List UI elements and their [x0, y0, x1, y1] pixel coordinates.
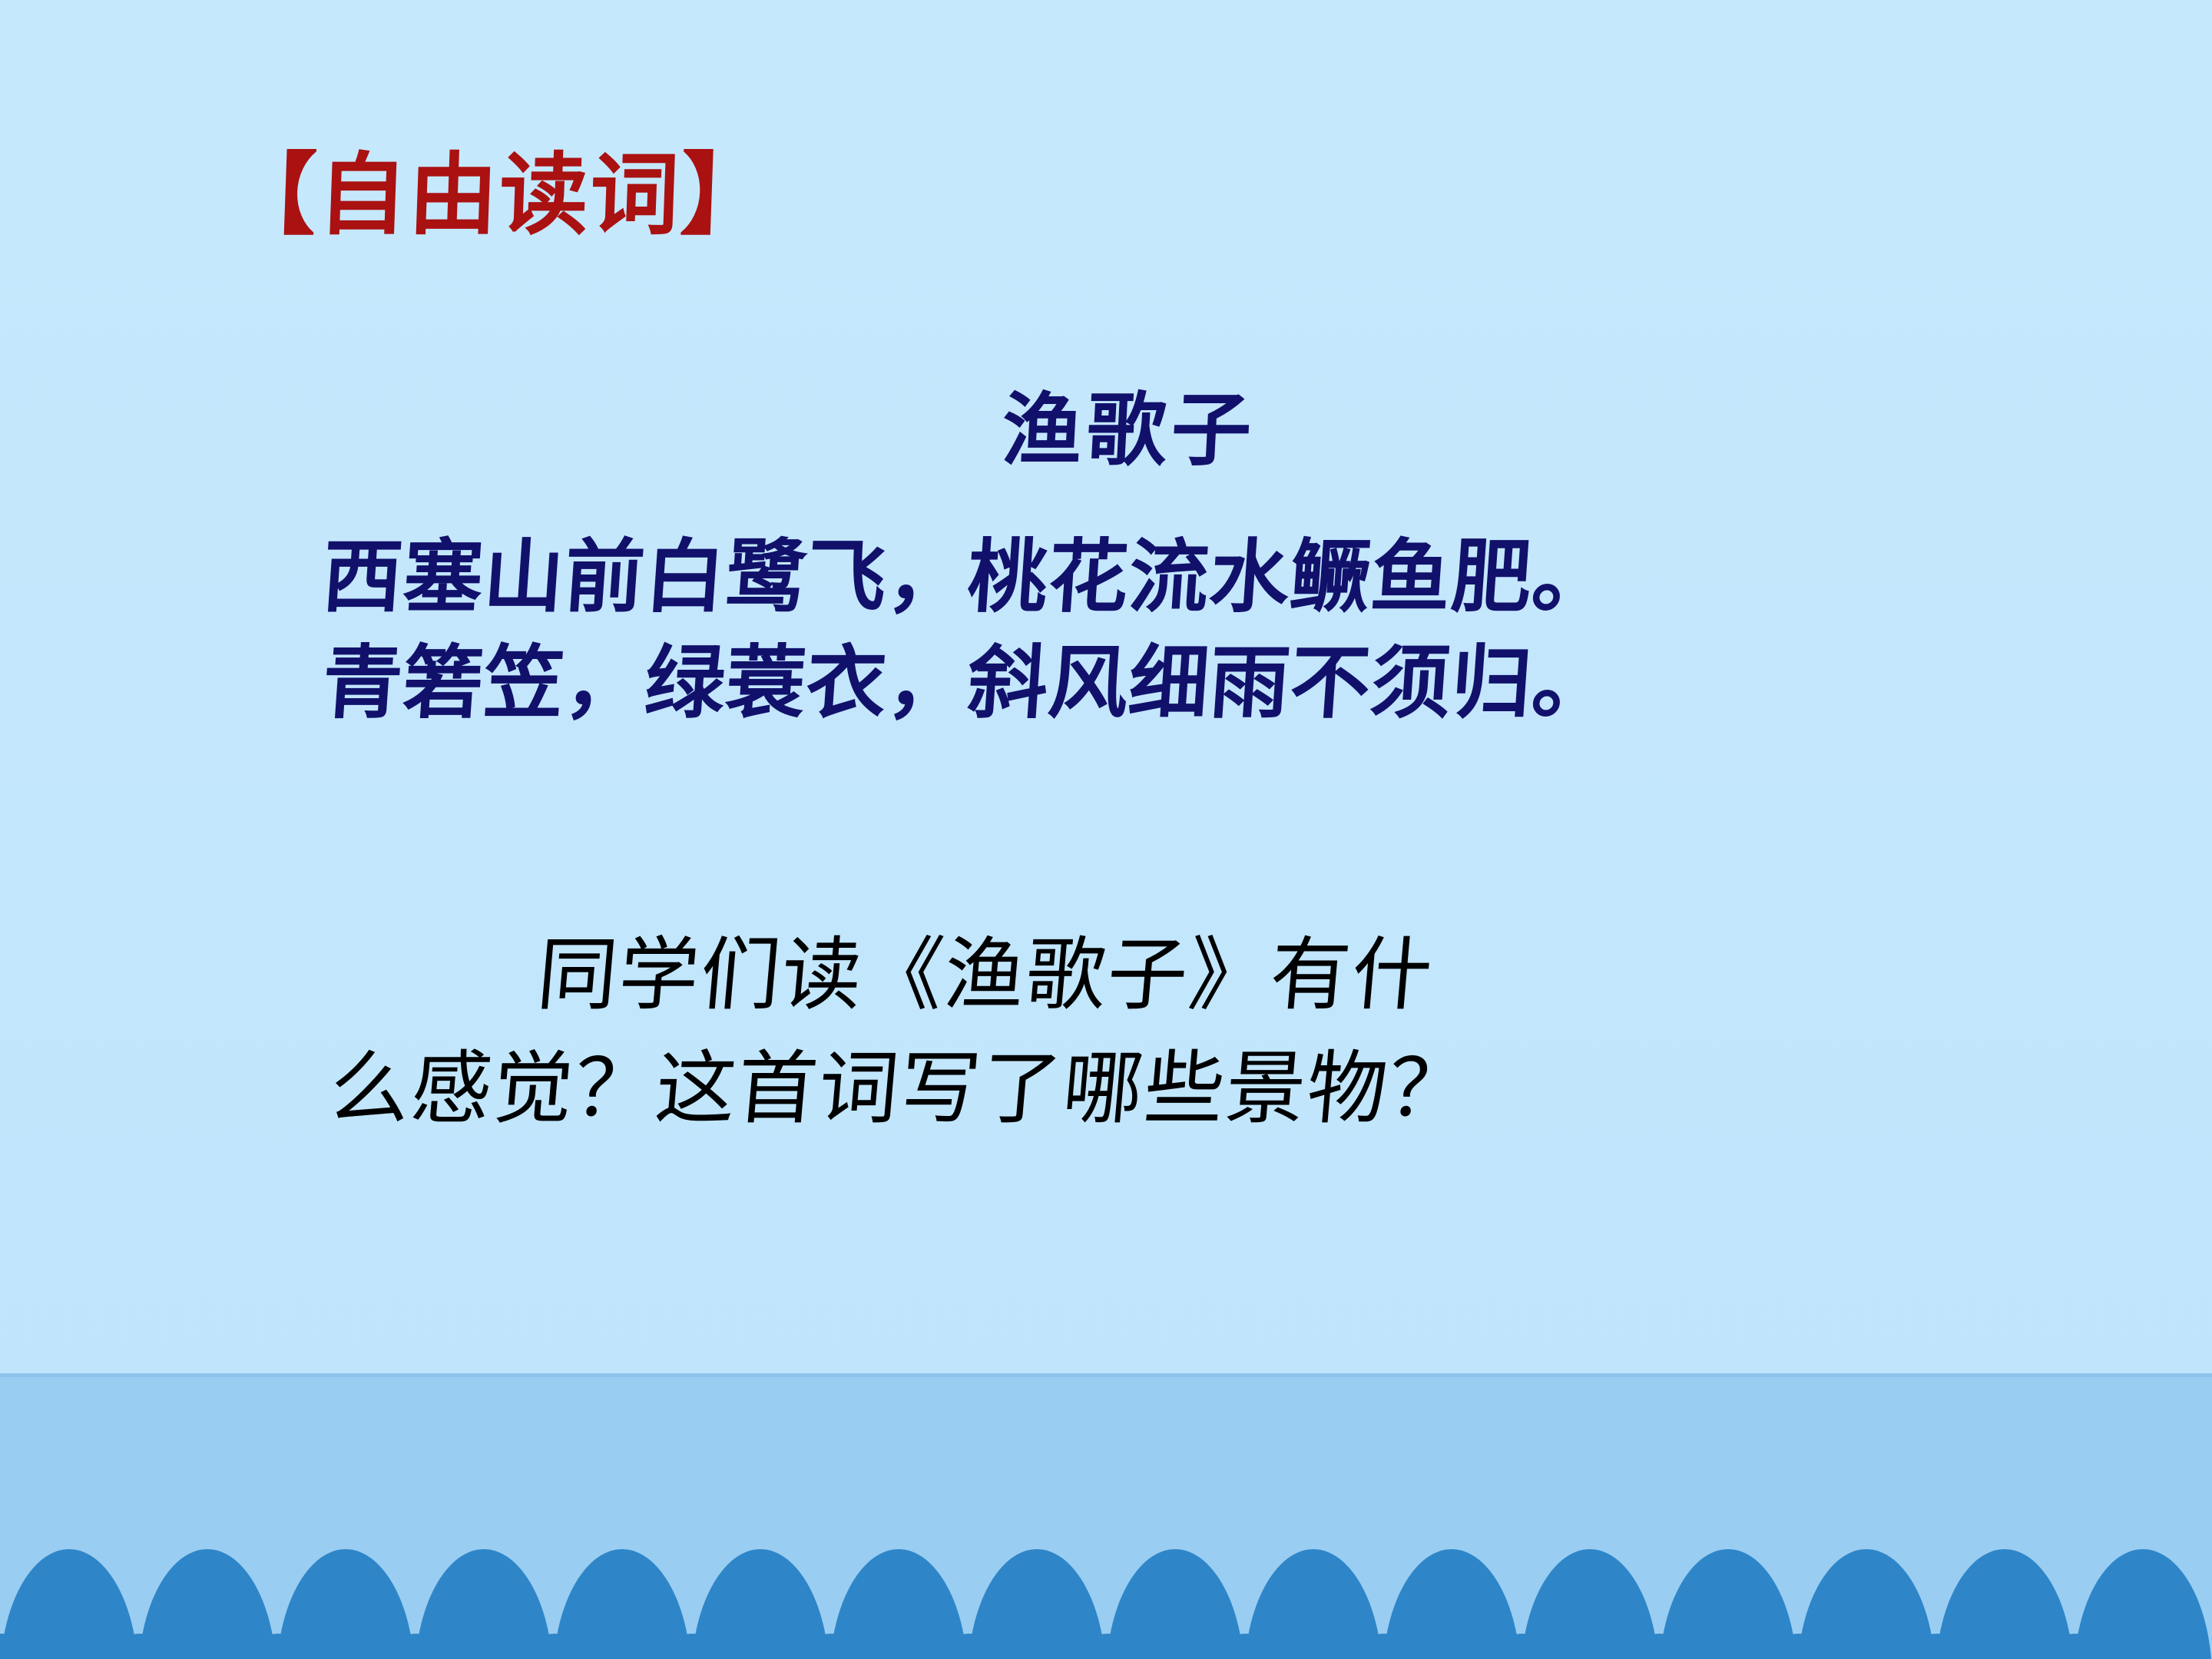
slide-canvas: 【自由读词】 渔歌子 西塞山前白鹭飞，桃花流水鳜鱼肥。 青箬笠，绿蓑衣，斜风细雨…: [0, 0, 2212, 1659]
section-title: 【自由读词】: [226, 151, 773, 240]
scallop-shapes-front: [0, 1586, 2200, 1659]
poem-line-1: 西塞山前白鹭飞，桃花流水鳜鱼肥。: [319, 524, 2212, 630]
scallop-row-front: [0, 1586, 2200, 1659]
poem-line-2: 青箬笠，绿蓑衣，斜风细雨不须归。: [319, 630, 2212, 736]
question-line-1: 同学们读《渔歌子》有什: [326, 919, 2212, 1032]
band-top-divider: [0, 1373, 2212, 1377]
question-line-2: 么感觉？这首词写了哪些景物？: [326, 1032, 2212, 1146]
poem-title: 渔歌子: [0, 384, 2212, 476]
bottom-decorative-band: [0, 1373, 2212, 1659]
question-block: 同学们读《渔歌子》有什 么感觉？这首词写了哪些景物？: [0, 919, 2212, 1145]
poem-block: 渔歌子 西塞山前白鹭飞，桃花流水鳜鱼肥。 青箬笠，绿蓑衣，斜风细雨不须归。: [0, 384, 2212, 736]
poem-lines: 西塞山前白鹭飞，桃花流水鳜鱼肥。 青箬笠，绿蓑衣，斜风细雨不须归。: [0, 524, 2212, 737]
